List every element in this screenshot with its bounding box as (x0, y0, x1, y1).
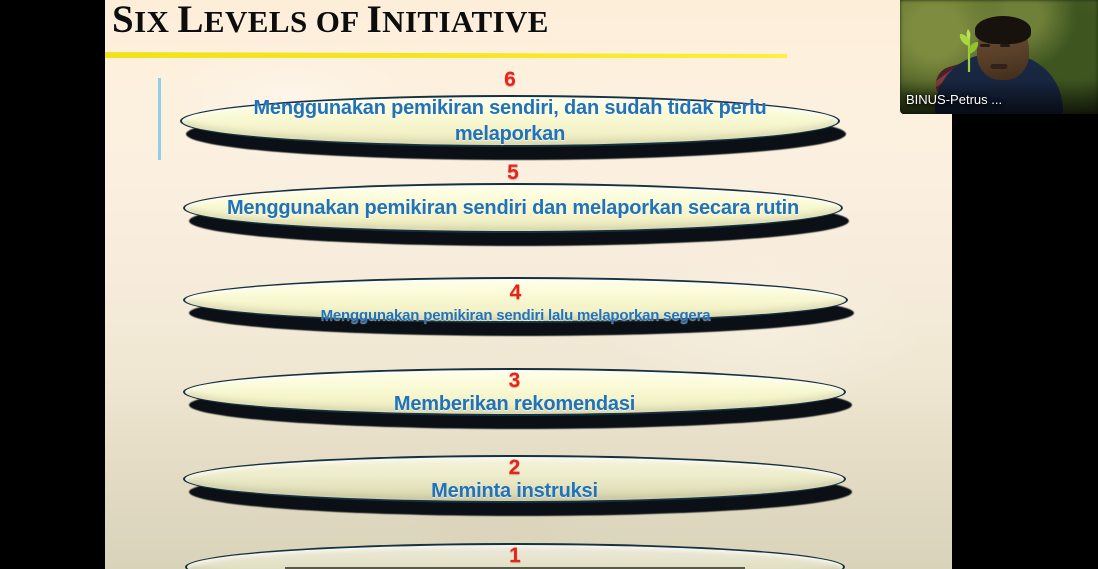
level-number-1: 1 (509, 546, 521, 566)
slide-title: SIX LEVELS OF INITIATIVE (112, 0, 549, 44)
level-item-4[interactable]: 4 Menggunakan pemikiran sendiri lalu mel… (183, 277, 848, 323)
title-cap-l: L (178, 0, 204, 41)
title-cap-i: I (367, 0, 383, 41)
level-number-3: 3 (509, 371, 521, 391)
level-text-5: Menggunakan pemikiran sendiri dan melapo… (227, 195, 799, 221)
title-rest-evels-of: EVELS OF (204, 4, 367, 39)
disc-content: Menggunakan pemikiran sendiri dan melapo… (183, 183, 843, 233)
level-item-6[interactable]: 6 Menggunakan pemikiran sendiri, dan sud… (180, 95, 840, 147)
level-text-6: Menggunakan pemikiran sendiri, dan sudah… (200, 95, 820, 147)
webcam-person-eye-right (1000, 44, 1010, 47)
initiative-level-stack: 6 Menggunakan pemikiran sendiri, dan sud… (105, 0, 952, 569)
screen-root: SIX LEVELS OF INITIATIVE 6 Menggunakan p… (0, 0, 1098, 569)
title-rest-nitiative: NITIATIVE (382, 4, 549, 39)
level-text-4: Menggunakan pemikiran sendiri lalu melap… (321, 306, 711, 325)
left-accent-bar (158, 78, 161, 160)
level-text-2: Meminta instruksi (431, 478, 598, 504)
disc-content: Menggunakan pemikiran sendiri, dan sudah… (180, 95, 840, 147)
presentation-slide: SIX LEVELS OF INITIATIVE 6 Menggunakan p… (105, 0, 952, 569)
level-number-5: 5 (507, 163, 519, 183)
disc-content: 3 Memberikan rekomendasi (183, 368, 846, 416)
webcam-participant-label: BINUS-Petrus ... (906, 92, 1002, 108)
disc-content: 1 Menunggu diberitahu apa yang harus dik… (185, 543, 845, 569)
level-number-6: 6 (504, 70, 516, 90)
disc-content: 2 Meminta instruksi (183, 455, 846, 503)
level-text-3: Memberikan rekomendasi (394, 391, 635, 417)
webcam-thumbnail[interactable]: BINUS-Petrus ... (900, 0, 1098, 114)
level-item-3[interactable]: 3 Memberikan rekomendasi (183, 368, 846, 416)
level-item-2[interactable]: 2 Meminta instruksi (183, 455, 846, 503)
level-number-4: 4 (510, 283, 522, 303)
title-rest-ix: IX (134, 4, 177, 39)
level-number-2: 2 (509, 458, 521, 478)
level-item-5[interactable]: 5 Menggunakan pemikiran sendiri dan mela… (183, 183, 843, 233)
plant-sprig-icon (954, 28, 984, 72)
disc-content: 4 Menggunakan pemikiran sendiri lalu mel… (183, 277, 848, 323)
webcam-person-mouth (991, 64, 1008, 69)
level-item-1[interactable]: 1 Menunggu diberitahu apa yang harus dik… (185, 543, 845, 569)
title-cap-s: S (112, 0, 134, 41)
